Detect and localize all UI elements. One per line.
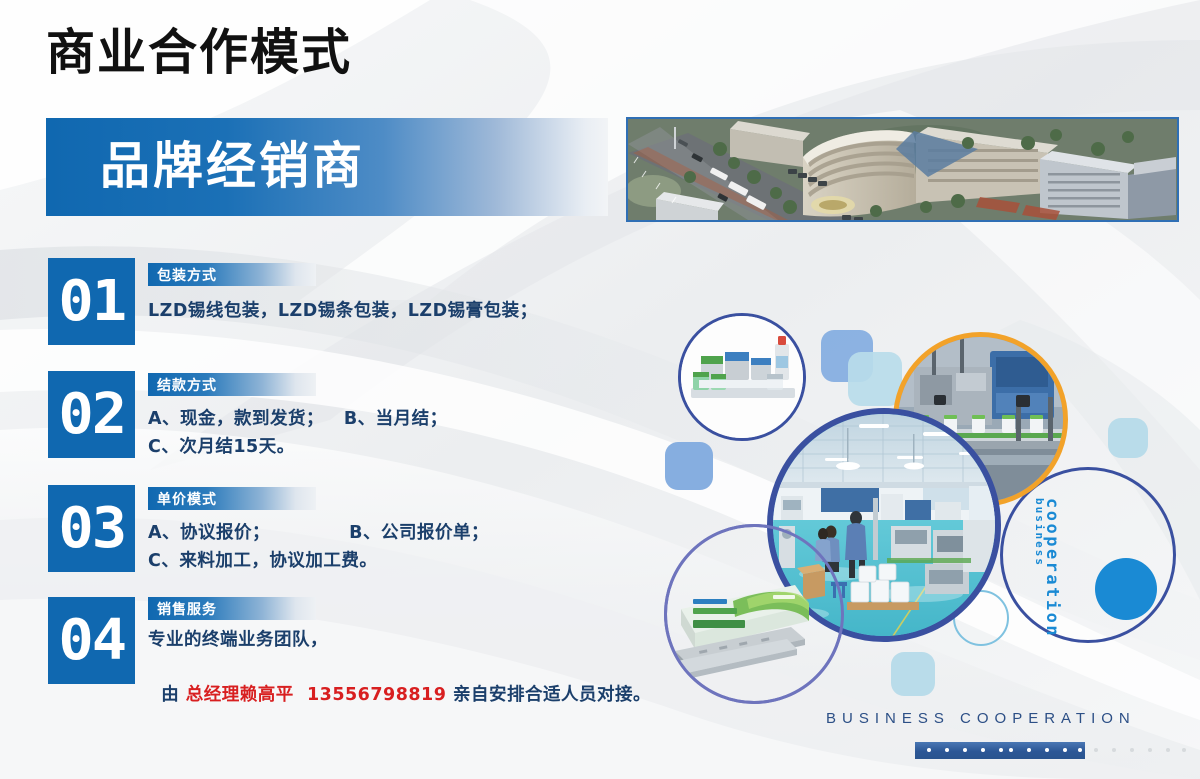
item-badge-04: 销售服务: [148, 597, 316, 620]
brand-banner: 品牌经销商: [46, 118, 608, 216]
item-body-03-line-1: A、协议报价； B、公司报价单；: [148, 520, 489, 547]
item-body-03-line-2: C、来料加工，协议加工费。: [148, 548, 377, 575]
contact-role-name: 总经理赖高平: [186, 685, 294, 705]
item-number-01: 01: [58, 274, 125, 330]
item-badge-label-01: 包装方式: [148, 265, 217, 285]
item-body-04-contact-line: 由 总经理赖高平 13556798819 亲自安排合适人员对接。: [148, 655, 651, 709]
item-number-box-04: 04: [48, 597, 135, 684]
item-body-04-line-1: 专业的终端业务团队，: [148, 627, 328, 654]
contact-gap: [294, 685, 307, 705]
item-badge-01: 包装方式: [148, 263, 316, 286]
item-number-04: 04: [58, 613, 125, 669]
item-body-02-line-1: A、现金，款到发货； B、当月结；: [148, 406, 448, 433]
decor-square-bottom: [891, 652, 935, 696]
contact-phone-number[interactable]: 13556798819: [307, 685, 446, 705]
decor-square-mid-left: [665, 442, 713, 490]
item-badge-label-04: 销售服务: [148, 599, 217, 619]
hero-aerial-photo: [626, 117, 1179, 222]
bottom-caption: BUSINESS COOPERATION: [826, 710, 1136, 727]
photo-circle-solder-box: [664, 524, 844, 704]
decor-dot-bar: [915, 742, 1085, 759]
decor-solid-circle: [1095, 558, 1157, 620]
contact-suffix: 亲自安排合适人员对接。: [446, 685, 651, 705]
item-number-02: 02: [58, 387, 125, 443]
item-body-01: LZD锡线包装，LZD锡条包装，LZD锡膏包装；: [148, 298, 538, 325]
photo-circle-products: [678, 313, 806, 441]
item-number-box-02: 02: [48, 371, 135, 458]
item-badge-02: 结款方式: [148, 373, 316, 396]
item-number-03: 03: [58, 501, 125, 557]
brand-banner-label: 品牌经销商: [100, 138, 365, 196]
item-number-box-01: 01: [48, 258, 135, 345]
item-badge-03: 单价模式: [148, 487, 316, 510]
decor-square-upper-b: [848, 352, 902, 406]
item-badge-label-02: 结款方式: [148, 375, 217, 395]
page-title: 商业合作模式: [46, 28, 352, 77]
vertical-text-cooperation: cooperation: [1042, 498, 1062, 638]
contact-prefix: 由: [161, 685, 186, 705]
decor-dot-tail: [1090, 742, 1185, 759]
item-badge-label-03: 单价模式: [148, 489, 217, 509]
item-number-box-03: 03: [48, 485, 135, 572]
item-body-02-line-2: C、次月结15天。: [148, 434, 295, 461]
decor-square-right: [1108, 418, 1148, 458]
